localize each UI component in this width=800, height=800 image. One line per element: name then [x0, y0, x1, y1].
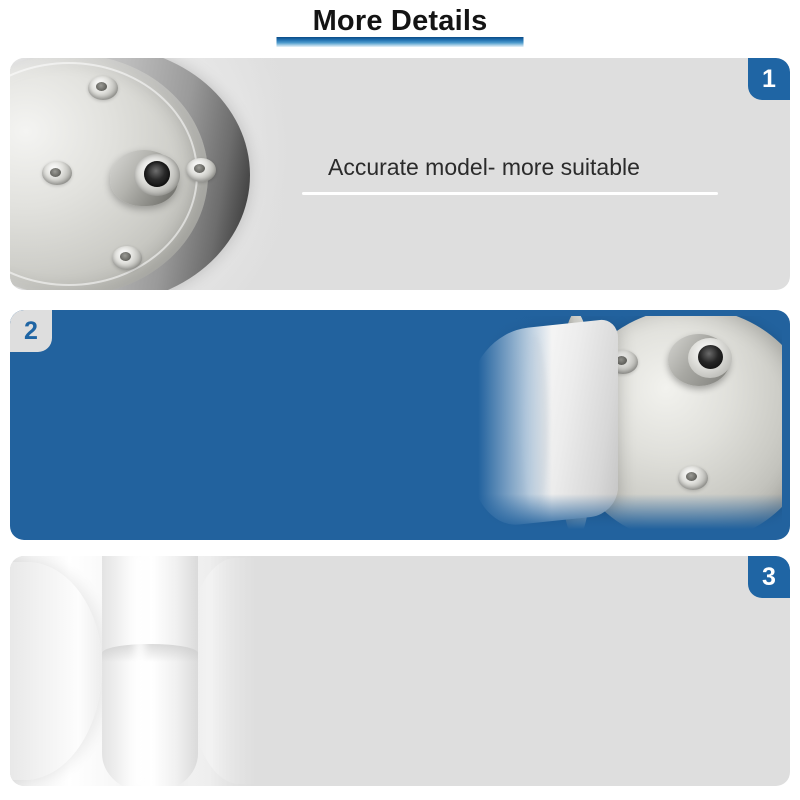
feature-panel-1: Accurate model- more suitable 1	[10, 58, 790, 290]
feature-panel-3: Reinforced ABS material not easy to crac…	[10, 556, 790, 786]
panel-number-badge-3: 3	[748, 556, 790, 598]
abs-plastic-closeup-photo	[10, 556, 280, 786]
panel-number-badge-1: 1	[748, 58, 790, 100]
page-title: More Details	[307, 4, 494, 38]
bolt-hole-center	[96, 82, 107, 91]
plastic-center-column	[102, 556, 198, 786]
feature-text-1: Accurate model- more suitable	[302, 150, 732, 203]
bolt-hole-center	[50, 168, 61, 177]
bolt-hole-center	[194, 164, 205, 173]
panel-number-badge-2: 2	[10, 310, 52, 352]
plastic-seam-shadow	[102, 644, 198, 662]
plastic-highlight	[130, 556, 150, 786]
metal-flange-disc-photo	[10, 58, 340, 290]
title-underline-bar	[277, 37, 524, 47]
plastic-left-contour	[10, 562, 102, 780]
bolt-hole-center	[120, 252, 131, 261]
bolt-hole-center	[686, 472, 697, 481]
feature-panel-2: High quality coating resistant to high t…	[10, 310, 790, 540]
center-hub-bore	[698, 345, 723, 369]
feature-line: Accurate model- more suitable	[302, 150, 732, 184]
plastic-right-contour	[186, 558, 280, 784]
product-details-infographic: More Details Accurate model- more suitab…	[0, 0, 800, 800]
center-hub-bore	[144, 161, 170, 187]
page-title-block: More Details	[0, 4, 800, 50]
text-divider	[302, 192, 718, 195]
image-fade-bottom	[462, 494, 782, 534]
coated-housing-with-flange-photo	[462, 316, 782, 534]
